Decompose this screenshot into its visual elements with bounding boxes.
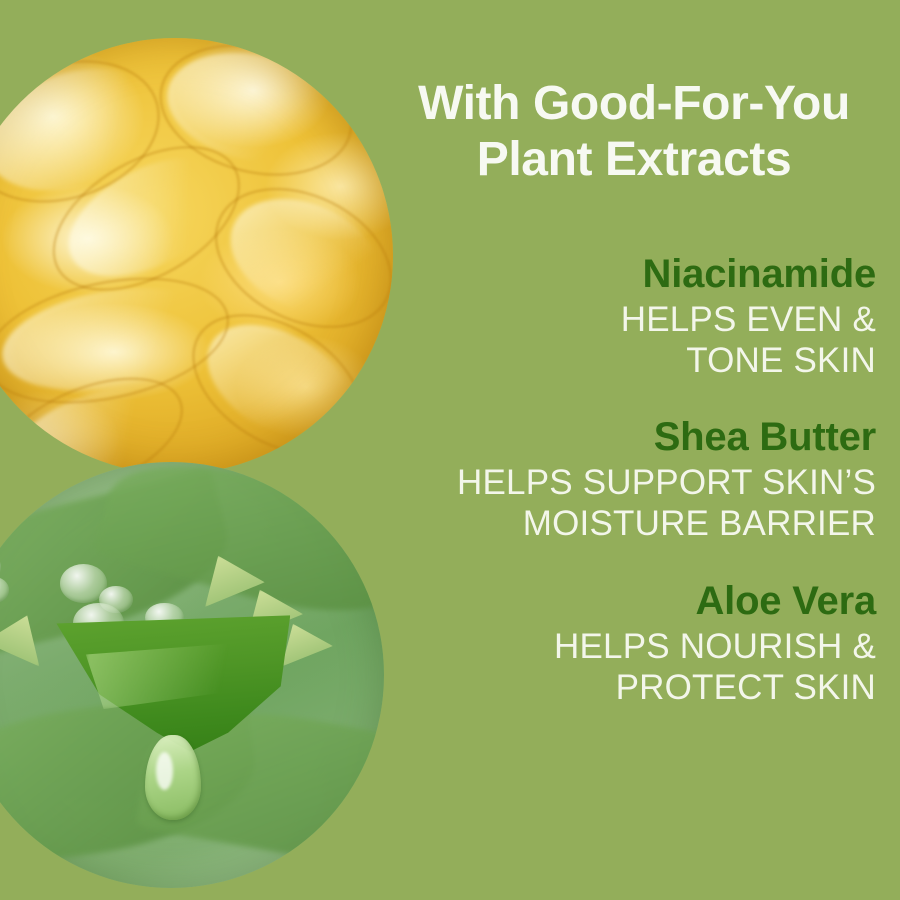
product-benefits-poster: With Good-For-You Plant Extracts Niacina… <box>0 0 900 900</box>
ingredient-name: Shea Butter <box>392 415 876 460</box>
ingredient-benefit: HELPS NOURISH & PROTECT SKIN <box>392 626 876 709</box>
benefit-line-1: HELPS SUPPORT SKIN’S <box>392 462 876 503</box>
ingredient-benefit: HELPS SUPPORT SKIN’S MOISTURE BARRIER <box>392 462 876 545</box>
headline-line-1: With Good-For-You <box>392 76 876 132</box>
ingredient-list: Niacinamide HELPS EVEN & TONE SKIN Shea … <box>392 252 876 708</box>
benefit-line-1: HELPS NOURISH & <box>392 626 876 667</box>
ingredient-benefit: HELPS EVEN & TONE SKIN <box>392 299 876 382</box>
text-column: With Good-For-You Plant Extracts Niacina… <box>392 0 900 900</box>
headline-line-2: Plant Extracts <box>392 132 876 188</box>
aloe-photo-circle <box>0 462 384 888</box>
benefit-line-2: MOISTURE BARRIER <box>392 503 876 544</box>
benefit-line-1: HELPS EVEN & <box>392 299 876 340</box>
benefit-line-2: TONE SKIN <box>392 340 876 381</box>
capsules-photo-circle <box>0 38 393 474</box>
ingredient-item-aloe-vera: Aloe Vera HELPS NOURISH & PROTECT SKIN <box>392 579 876 708</box>
benefit-line-2: PROTECT SKIN <box>392 667 876 708</box>
poster-headline: With Good-For-You Plant Extracts <box>392 76 876 187</box>
ingredient-item-shea-butter: Shea Butter HELPS SUPPORT SKIN’S MOISTUR… <box>392 415 876 544</box>
ingredient-item-niacinamide: Niacinamide HELPS EVEN & TONE SKIN <box>392 252 876 381</box>
ingredient-name: Aloe Vera <box>392 579 876 624</box>
ingredient-name: Niacinamide <box>392 252 876 297</box>
